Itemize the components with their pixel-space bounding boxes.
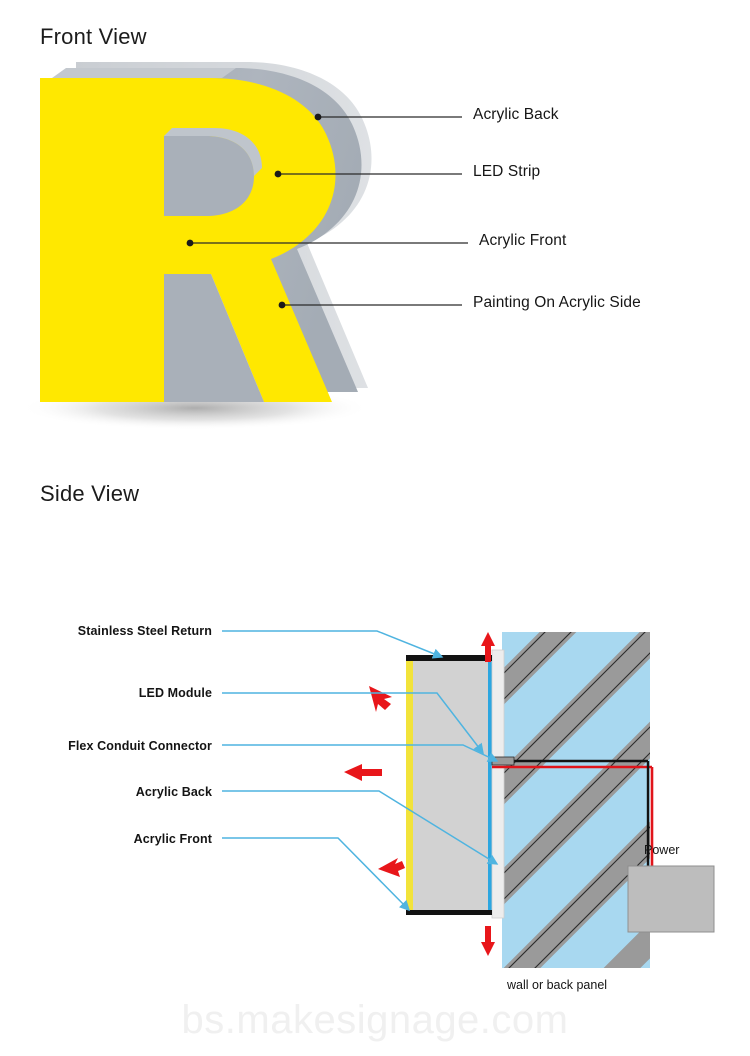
acrylic-back-line — [488, 661, 492, 913]
stainless-steel-return-top — [406, 655, 492, 661]
power-supply-box — [628, 866, 714, 932]
arrow-acrylic-front — [378, 858, 405, 877]
side-view-illustration — [0, 0, 750, 1056]
acrylic-front-edge — [406, 661, 413, 913]
power-label: Power — [644, 843, 679, 857]
side-label-flex-conduit-connector: Flex Conduit Connector — [0, 739, 212, 753]
mounting-strip — [492, 650, 504, 918]
wall-or-back-panel-caption: wall or back panel — [507, 978, 607, 992]
site-watermark: bs.makesignage.com — [0, 998, 750, 1043]
side-label-acrylic-front: Acrylic Front — [0, 832, 212, 846]
leader-stainless-steel-return — [222, 631, 442, 657]
letter-interior-body — [413, 661, 488, 913]
diagram-canvas: Front View — [0, 0, 750, 1056]
side-label-led-module: LED Module — [0, 686, 212, 700]
arrow-led-module — [369, 686, 392, 712]
arrow-down-bottom — [481, 926, 495, 956]
leader-acrylic-front-side — [222, 838, 409, 910]
stainless-steel-return-bottom — [406, 910, 492, 915]
arrow-acrylic-back — [344, 764, 382, 781]
side-label-acrylic-back: Acrylic Back — [0, 785, 212, 799]
side-label-stainless-steel-return: Stainless Steel Return — [0, 624, 212, 638]
